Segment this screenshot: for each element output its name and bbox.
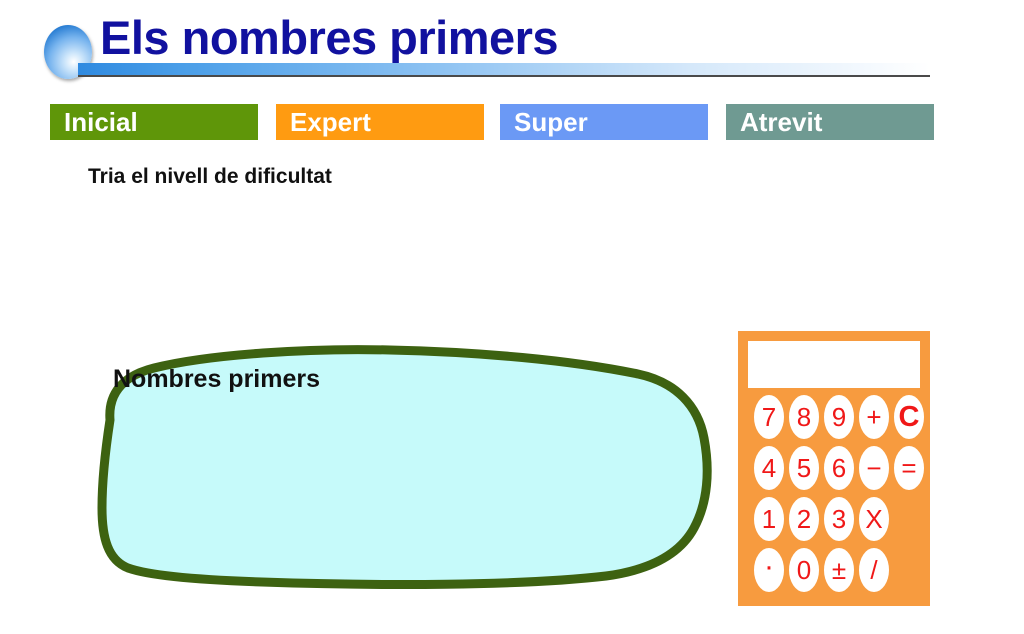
nombres-primers-region[interactable]: Nombres primers	[50, 330, 730, 600]
calculator-keyrow: 456−=	[738, 444, 930, 494]
calculator-display[interactable]	[748, 341, 920, 388]
calculator-keyrow: 123X	[738, 495, 930, 545]
calc-key-clear[interactable]: C	[894, 395, 924, 439]
calc-key-6[interactable]: 6	[824, 446, 854, 490]
calc-key-0[interactable]: 0	[789, 548, 819, 592]
calc-key-multiply[interactable]: X	[859, 497, 889, 541]
level-button-atrevit[interactable]: Atrevit	[726, 104, 934, 140]
calc-key-4[interactable]: 4	[754, 446, 784, 490]
calculator-keyrow: ·0±/	[738, 546, 930, 596]
header-rule-line	[78, 75, 930, 77]
calc-key-minus[interactable]: −	[859, 446, 889, 490]
calc-key-equals[interactable]: =	[894, 446, 924, 490]
level-button-inicial[interactable]: Inicial	[50, 104, 258, 140]
blob-title-label: Nombres primers	[113, 365, 320, 394]
calculator-keyrow: 789+C	[738, 393, 930, 443]
level-button-expert[interactable]: Expert	[276, 104, 484, 140]
calc-key-sign[interactable]: ±	[824, 548, 854, 592]
calc-key-divide[interactable]: /	[859, 548, 889, 592]
page-title: Els nombres primers	[100, 10, 558, 65]
difficulty-prompt-label: Tria el nivell de dificultat	[88, 165, 332, 189]
calc-key-5[interactable]: 5	[789, 446, 819, 490]
header-gradient-rule	[78, 63, 930, 75]
calc-key-decimal[interactable]: ·	[754, 548, 784, 592]
calc-key-1[interactable]: 1	[754, 497, 784, 541]
level-button-bar: Inicial Expert Super Atrevit	[0, 104, 1024, 142]
calc-key-2[interactable]: 2	[789, 497, 819, 541]
calc-key-8[interactable]: 8	[789, 395, 819, 439]
calculator-keypad: 789+C 456−= 123X ·0±/	[738, 393, 930, 603]
calc-key-plus[interactable]: +	[859, 395, 889, 439]
calculator-widget[interactable]: 789+C 456−= 123X ·0±/	[738, 331, 930, 606]
level-button-super[interactable]: Super	[500, 104, 708, 140]
slide-header: Els nombres primers	[0, 0, 1024, 92]
calc-key-9[interactable]: 9	[824, 395, 854, 439]
calc-key-3[interactable]: 3	[824, 497, 854, 541]
calc-key-7[interactable]: 7	[754, 395, 784, 439]
